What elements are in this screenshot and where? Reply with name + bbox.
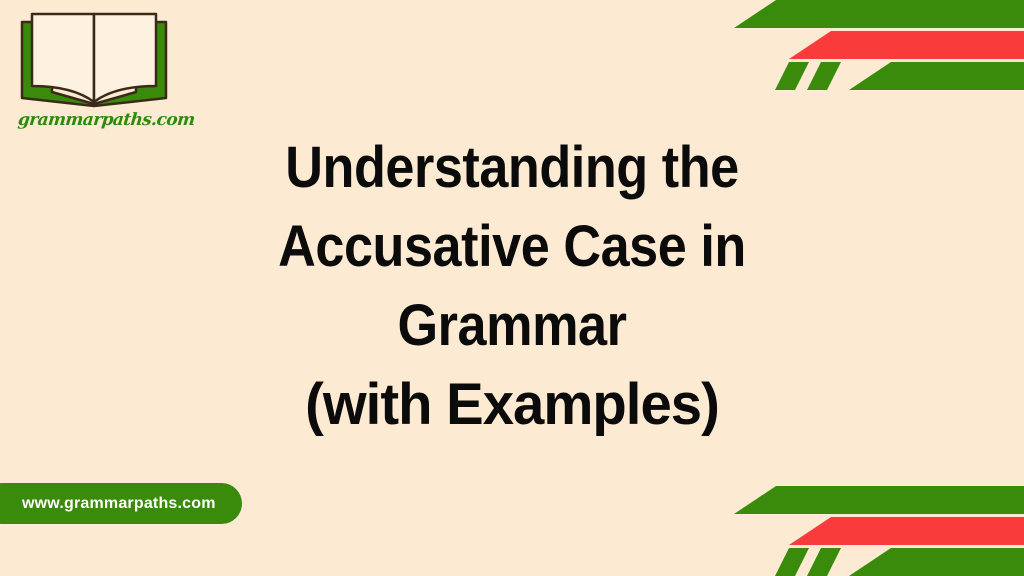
title-line-1: Understanding the — [51, 128, 973, 207]
decoration-top-right — [724, 0, 1024, 110]
page-title: Understanding the Accusative Case in Gra… — [0, 128, 1024, 444]
logo-brand-text: grammarpaths.com — [17, 110, 179, 130]
stripe-slash-top-2 — [775, 62, 809, 90]
stripe-slash-bottom-1 — [807, 548, 841, 576]
stripe-band-red-top — [789, 31, 1024, 59]
stripe-band-green-lower-top — [849, 62, 1024, 90]
title-line-4: (with Examples) — [15, 365, 1008, 444]
stripe-band-green-top — [734, 0, 1024, 28]
stripe-band-red-bottom — [789, 517, 1024, 545]
stripe-slash-bottom-2 — [775, 548, 809, 576]
logo: grammarpaths.com — [18, 6, 178, 130]
stripe-band-green-bottom — [734, 486, 1024, 514]
url-badge-label: www.grammarpaths.com — [22, 495, 216, 513]
url-badge[interactable]: www.grammarpaths.com — [0, 483, 242, 524]
title-line-3: Grammar — [51, 286, 973, 365]
title-line-2: Accusative Case in — [51, 207, 973, 286]
stripe-slash-top-1 — [807, 62, 841, 90]
decoration-bottom-right — [724, 466, 1024, 576]
stripe-band-green-lower-bottom — [849, 548, 1024, 576]
open-book-icon — [18, 6, 170, 108]
